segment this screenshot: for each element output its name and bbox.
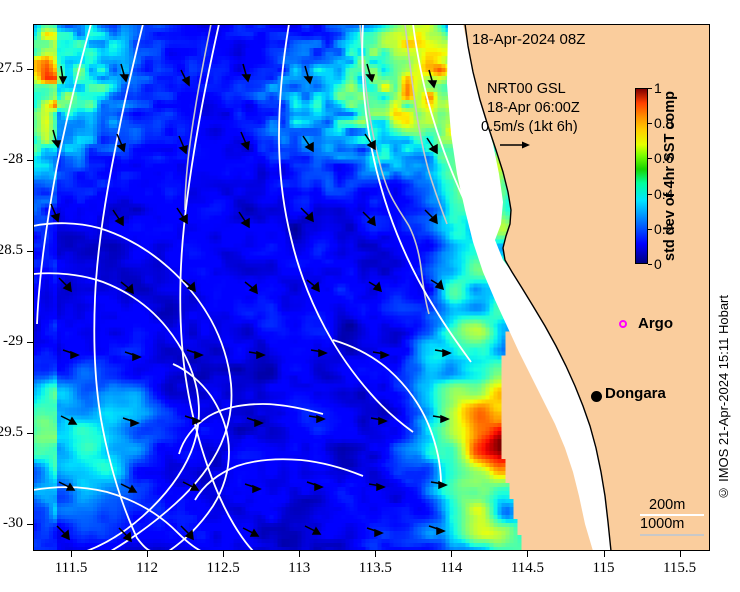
x-tick-label: 115: [574, 560, 634, 577]
velocity-scale-label: 0.5m/s (1kt 6h): [481, 119, 578, 135]
bathy-1000m-legend-label: 1000m: [640, 516, 684, 532]
colorbar-gradient: [635, 88, 648, 264]
y-tick-label: -29: [0, 333, 23, 350]
colorbar-tick: [648, 158, 652, 159]
x-tick: [451, 551, 452, 557]
x-tick-label: 115.5: [650, 560, 710, 577]
argo-marker-icon: [619, 320, 627, 328]
source-product-label: NRT00 GSL: [487, 81, 566, 97]
argo-legend-label: Argo: [638, 315, 673, 332]
x-tick: [71, 551, 72, 557]
colorbar-tick-label: 0: [654, 257, 662, 271]
y-tick-label: -28: [0, 151, 23, 168]
y-tick-label: -28.5: [0, 242, 23, 259]
x-tick-label: 114.5: [497, 560, 557, 577]
x-tick: [223, 551, 224, 557]
y-tick-label: -30: [0, 515, 23, 532]
x-tick-label: 114: [421, 560, 481, 577]
x-tick: [375, 551, 376, 557]
x-tick: [604, 551, 605, 557]
copyright-label: © IMOS 21-Apr-2024 15:11 Hobart: [716, 295, 731, 501]
figure-root: 111.5112112.5113113.5114114.5115115.5 -2…: [0, 0, 740, 592]
x-tick: [147, 551, 148, 557]
y-tick: [27, 69, 33, 70]
x-tick-label: 113.5: [345, 560, 405, 577]
colorbar-tick: [648, 264, 652, 265]
colorbar-tick: [648, 194, 652, 195]
x-tick-label: 111.5: [41, 560, 101, 577]
source-time-label: 18-Apr 06:00Z: [487, 100, 580, 116]
map-plot-area[interactable]: [33, 24, 710, 551]
x-tick-label: 112: [117, 560, 177, 577]
y-tick: [27, 160, 33, 161]
y-tick-label: -27.5: [0, 60, 23, 77]
colorbar-tick: [648, 229, 652, 230]
bathy-1000m-legend-line: [640, 534, 704, 536]
colorbar-tick: [648, 88, 652, 89]
y-tick: [27, 524, 33, 525]
colorbar-tick: [648, 123, 652, 124]
dongara-marker-icon: [591, 391, 602, 402]
x-tick-label: 112.5: [193, 560, 253, 577]
colorbar-title: std dev of 4hr SST comp: [662, 88, 678, 264]
x-tick: [299, 551, 300, 557]
x-tick: [680, 551, 681, 557]
x-tick: [527, 551, 528, 557]
reference-arrow-icon: [500, 140, 530, 150]
date-stamp-label: 18-Apr-2024 08Z: [472, 31, 585, 48]
y-tick: [27, 251, 33, 252]
bathymetry-1000m-contours: [185, 24, 447, 314]
y-tick-label: -29.5: [0, 424, 23, 441]
map-overlays: [33, 24, 710, 551]
surface-current-vectors: [51, 64, 450, 541]
x-tick-label: 113: [269, 560, 329, 577]
colorbar-tick-label: 1: [654, 81, 662, 95]
y-tick: [27, 342, 33, 343]
dongara-city-label: Dongara: [605, 385, 666, 402]
y-tick: [27, 433, 33, 434]
colorbar: [635, 88, 648, 264]
bathy-200m-legend-label: 200m: [649, 497, 685, 513]
